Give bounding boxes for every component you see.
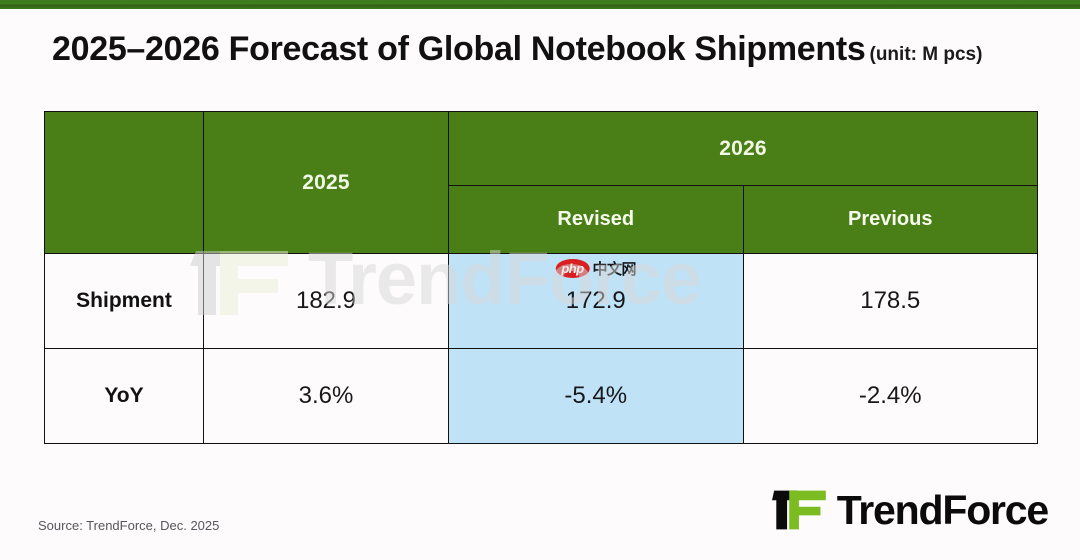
php-logo-icon: php [555,259,589,278]
trendforce-brand-logo: TrendForce [772,487,1048,533]
table-row: YoY 3.6% -5.4% -2.4% [45,349,1038,444]
table-header-2026: 2026 [449,112,1038,186]
row-label-yoy: YoY [45,349,204,444]
trendforce-brand-name: TrendForce [837,487,1048,533]
table-corner-cell [45,112,204,254]
cell-shipment-2026-revised-value: 172.9 [566,287,626,314]
trendforce-logo-mark-icon [772,487,828,533]
php-watermark-badge: php 中文网 [555,258,636,279]
table-header-revised: Revised [449,186,744,254]
forecast-table: 2025 2026 Revised Previous Shipment 182.… [44,111,1038,444]
php-chinese-label: 中文网 [592,258,636,279]
cell-shipment-2026-previous: 178.5 [743,254,1038,349]
top-accent-bar [0,0,1080,9]
cell-yoy-2026-revised: -5.4% [449,349,744,444]
forecast-table-container: 2025 2026 Revised Previous Shipment 182.… [44,111,1038,443]
table-header-2025: 2025 [204,112,449,254]
cell-shipment-2026-revised: php 中文网 172.9 [449,254,744,349]
cell-yoy-2026-previous: -2.4% [743,349,1038,444]
table-header-row-groups: 2025 2026 [45,112,1038,186]
cell-shipment-2025: 182.9 [204,254,449,349]
table-header-previous: Previous [743,186,1038,254]
cell-yoy-2025: 3.6% [204,349,449,444]
page-title: 2025–2026 Forecast of Global Notebook Sh… [52,30,1040,69]
page-title-main: 2025–2026 Forecast of Global Notebook Sh… [52,30,866,68]
source-note: Source: TrendForce, Dec. 2025 [38,518,219,533]
page-title-unit: (unit: M pcs) [870,44,983,65]
row-label-shipment: Shipment [45,254,204,349]
table-row: Shipment 182.9 php 中文网 172.9 178.5 [45,254,1038,349]
